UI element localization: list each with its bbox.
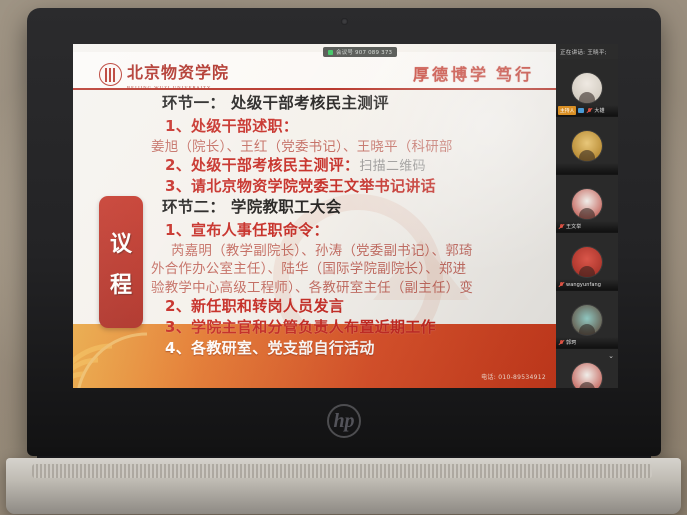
avatar [572, 305, 602, 335]
slide-line: 3、学院主官和分管负责人布置近期工作 [165, 320, 551, 335]
avatar [572, 247, 602, 277]
slide-line: 姜旭（院长）、王红（党委书记）、王晓平（科研部 [151, 140, 551, 154]
university-name-cn: 北京物资学院 [127, 59, 229, 83]
recording-dot-icon [328, 50, 333, 55]
avatar [572, 189, 602, 219]
speaking-status: 正在讲话: 王晓平; [556, 44, 618, 59]
participant-tile[interactable]: 郭珂 [556, 291, 618, 349]
laptop-base [6, 458, 681, 514]
slide-line: 4、各教研室、党支部自行活动 [165, 341, 551, 356]
participant-tile[interactable]: ⌄ 小汤 [556, 349, 618, 388]
webcam-icon [341, 18, 348, 25]
participant-rail[interactable]: 正在讲话: 王晓平; 主持人 大雄 [556, 44, 618, 388]
slide-line-text: 2、处级干部考核民主测评： [165, 156, 359, 174]
chevron-down-icon[interactable]: ⌄ [608, 353, 614, 360]
avatar [572, 131, 602, 161]
slide-line: 1、宣布人事任职命令： [165, 223, 551, 238]
slide-line: 验教学中心高级工程师）、各教研室主任（副主任）变 [151, 281, 551, 295]
university-motto: 厚德博学 笃行 [413, 61, 534, 85]
mic-muted-icon [558, 340, 564, 346]
slide-line: 2、新任职和转岗人员发言 [165, 299, 551, 314]
mic-muted-icon [586, 108, 592, 114]
participant-namebar: 主持人 大雄 [556, 105, 618, 116]
slide-line: 外合作办公室主任）、陆华（国际学院副院长）、郑进 [151, 262, 551, 276]
participant-name: 王文举 [566, 223, 581, 230]
participant-namebar [556, 163, 618, 174]
slide-header-band: 北京物资学院 BEIJING WUZI UNIVERSITY 厚德博学 笃行 [73, 52, 556, 90]
agenda-tab: 议 程 [99, 196, 143, 328]
meeting-id-badge: 会议号 907 089 373 [323, 47, 397, 57]
participant-namebar: 郭珂 [556, 337, 618, 348]
mic-muted-icon [558, 224, 564, 230]
slide-text-body: 环节一： 处级干部考核民主测评 1、处级干部述职： 姜旭（院长）、王红（党委书记… [147, 96, 551, 362]
mic-muted-icon [558, 282, 564, 288]
laptop-device: 北京物资学院 BEIJING WUZI UNIVERSITY 厚德博学 笃行 会… [27, 8, 661, 456]
participant-namebar: 王文举 [556, 221, 618, 232]
slide-line: 环节二： 学院教职工大会 [162, 200, 551, 216]
slide-line: 1、处级干部述职： [165, 119, 551, 134]
participant-name: 郭珂 [566, 339, 576, 346]
meeting-id-text: 会议号 907 089 373 [336, 48, 392, 56]
screen-share-icon [578, 108, 584, 113]
slide-line: 环节一： 处级干部考核民主测评 [162, 96, 551, 112]
host-badge: 主持人 [558, 106, 576, 115]
slide-line-tail: 扫描二维码 [359, 158, 426, 173]
speaker-grille [32, 464, 652, 478]
participant-tile[interactable]: 主持人 大雄 [556, 59, 618, 117]
participant-name: wangyunfang [566, 282, 601, 288]
slide-line: 2、处级干部考核民主测评：扫描二维码 [165, 158, 551, 173]
photo-scene: 北京物资学院 BEIJING WUZI UNIVERSITY 厚德博学 笃行 会… [0, 0, 687, 515]
hp-brand-logo: hp [327, 404, 361, 438]
contact-phone: 电话: 010-89534912 [481, 372, 546, 381]
participant-tile[interactable]: wangyunfang [556, 233, 618, 291]
participant-tile[interactable]: 王文举 [556, 175, 618, 233]
university-name-en: BEIJING WUZI UNIVERSITY [127, 85, 229, 90]
participant-namebar: wangyunfang [556, 279, 618, 290]
slide-line: 3、请北京物资学院党委王文举书记讲话 [165, 179, 551, 194]
avatar [572, 363, 602, 389]
laptop-screen: 北京物资学院 BEIJING WUZI UNIVERSITY 厚德博学 笃行 会… [73, 44, 618, 388]
slide-line: 芮嘉明（教学副院长）、孙涛（党委副书记）、郭琦 [171, 244, 551, 258]
presentation-slide: 北京物资学院 BEIJING WUZI UNIVERSITY 厚德博学 笃行 会… [73, 44, 556, 388]
avatar [572, 73, 602, 103]
participant-name: 大雄 [594, 107, 604, 114]
university-logo: 北京物资学院 BEIJING WUZI UNIVERSITY [99, 59, 229, 90]
agenda-char-1: 议 [110, 226, 132, 258]
agenda-char-2: 程 [110, 267, 132, 299]
university-seal-icon [99, 63, 122, 86]
participant-tile[interactable] [556, 117, 618, 175]
